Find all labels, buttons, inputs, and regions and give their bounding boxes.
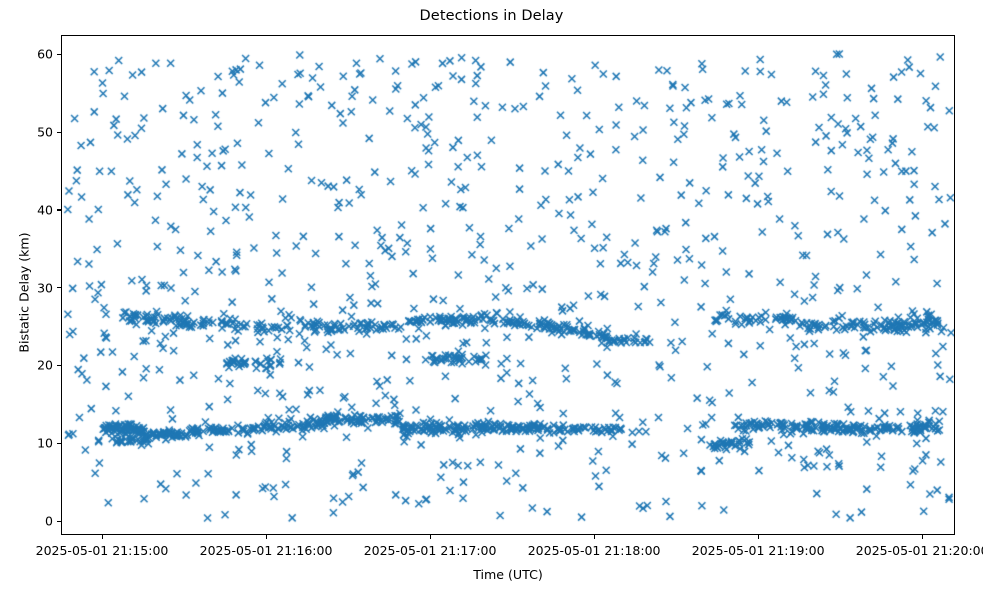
y-tick-mark	[57, 365, 61, 366]
scatter-points-layer	[62, 36, 955, 535]
matplotlib-figure: Detections in Delay Bistatic Delay (km) …	[0, 0, 983, 590]
y-tick-label: 30	[37, 280, 53, 295]
x-tick-label: 2025-05-01 21:19:00	[692, 543, 825, 558]
y-axis-label: Bistatic Delay (km)	[17, 43, 32, 543]
x-tick-mark	[430, 535, 431, 539]
y-tick-mark	[57, 132, 61, 133]
chart-title: Detections in Delay	[0, 8, 983, 24]
x-tick-mark	[922, 535, 923, 539]
y-tick-label: 60	[37, 47, 53, 62]
y-tick-mark	[57, 54, 61, 55]
y-tick-mark	[57, 521, 61, 522]
y-tick-label: 40	[37, 202, 53, 217]
x-tick-label: 2025-05-01 21:20:00	[856, 543, 983, 558]
y-tick-label: 50	[37, 125, 53, 140]
x-tick-label: 2025-05-01 21:17:00	[364, 543, 497, 558]
x-tick-mark	[266, 535, 267, 539]
x-tick-mark	[102, 535, 103, 539]
x-tick-mark	[594, 535, 595, 539]
x-tick-label: 2025-05-01 21:16:00	[200, 543, 333, 558]
y-tick-label: 10	[37, 436, 53, 451]
y-tick-mark	[57, 443, 61, 444]
x-tick-label: 2025-05-01 21:18:00	[528, 543, 661, 558]
y-tick-mark	[57, 287, 61, 288]
x-tick-mark	[758, 535, 759, 539]
x-tick-label: 2025-05-01 21:15:00	[36, 543, 169, 558]
plot-area	[61, 35, 955, 535]
y-tick-label: 0	[45, 514, 53, 529]
y-tick-mark	[57, 209, 61, 210]
x-axis-label: Time (UTC)	[61, 567, 955, 582]
y-tick-label: 20	[37, 358, 53, 373]
